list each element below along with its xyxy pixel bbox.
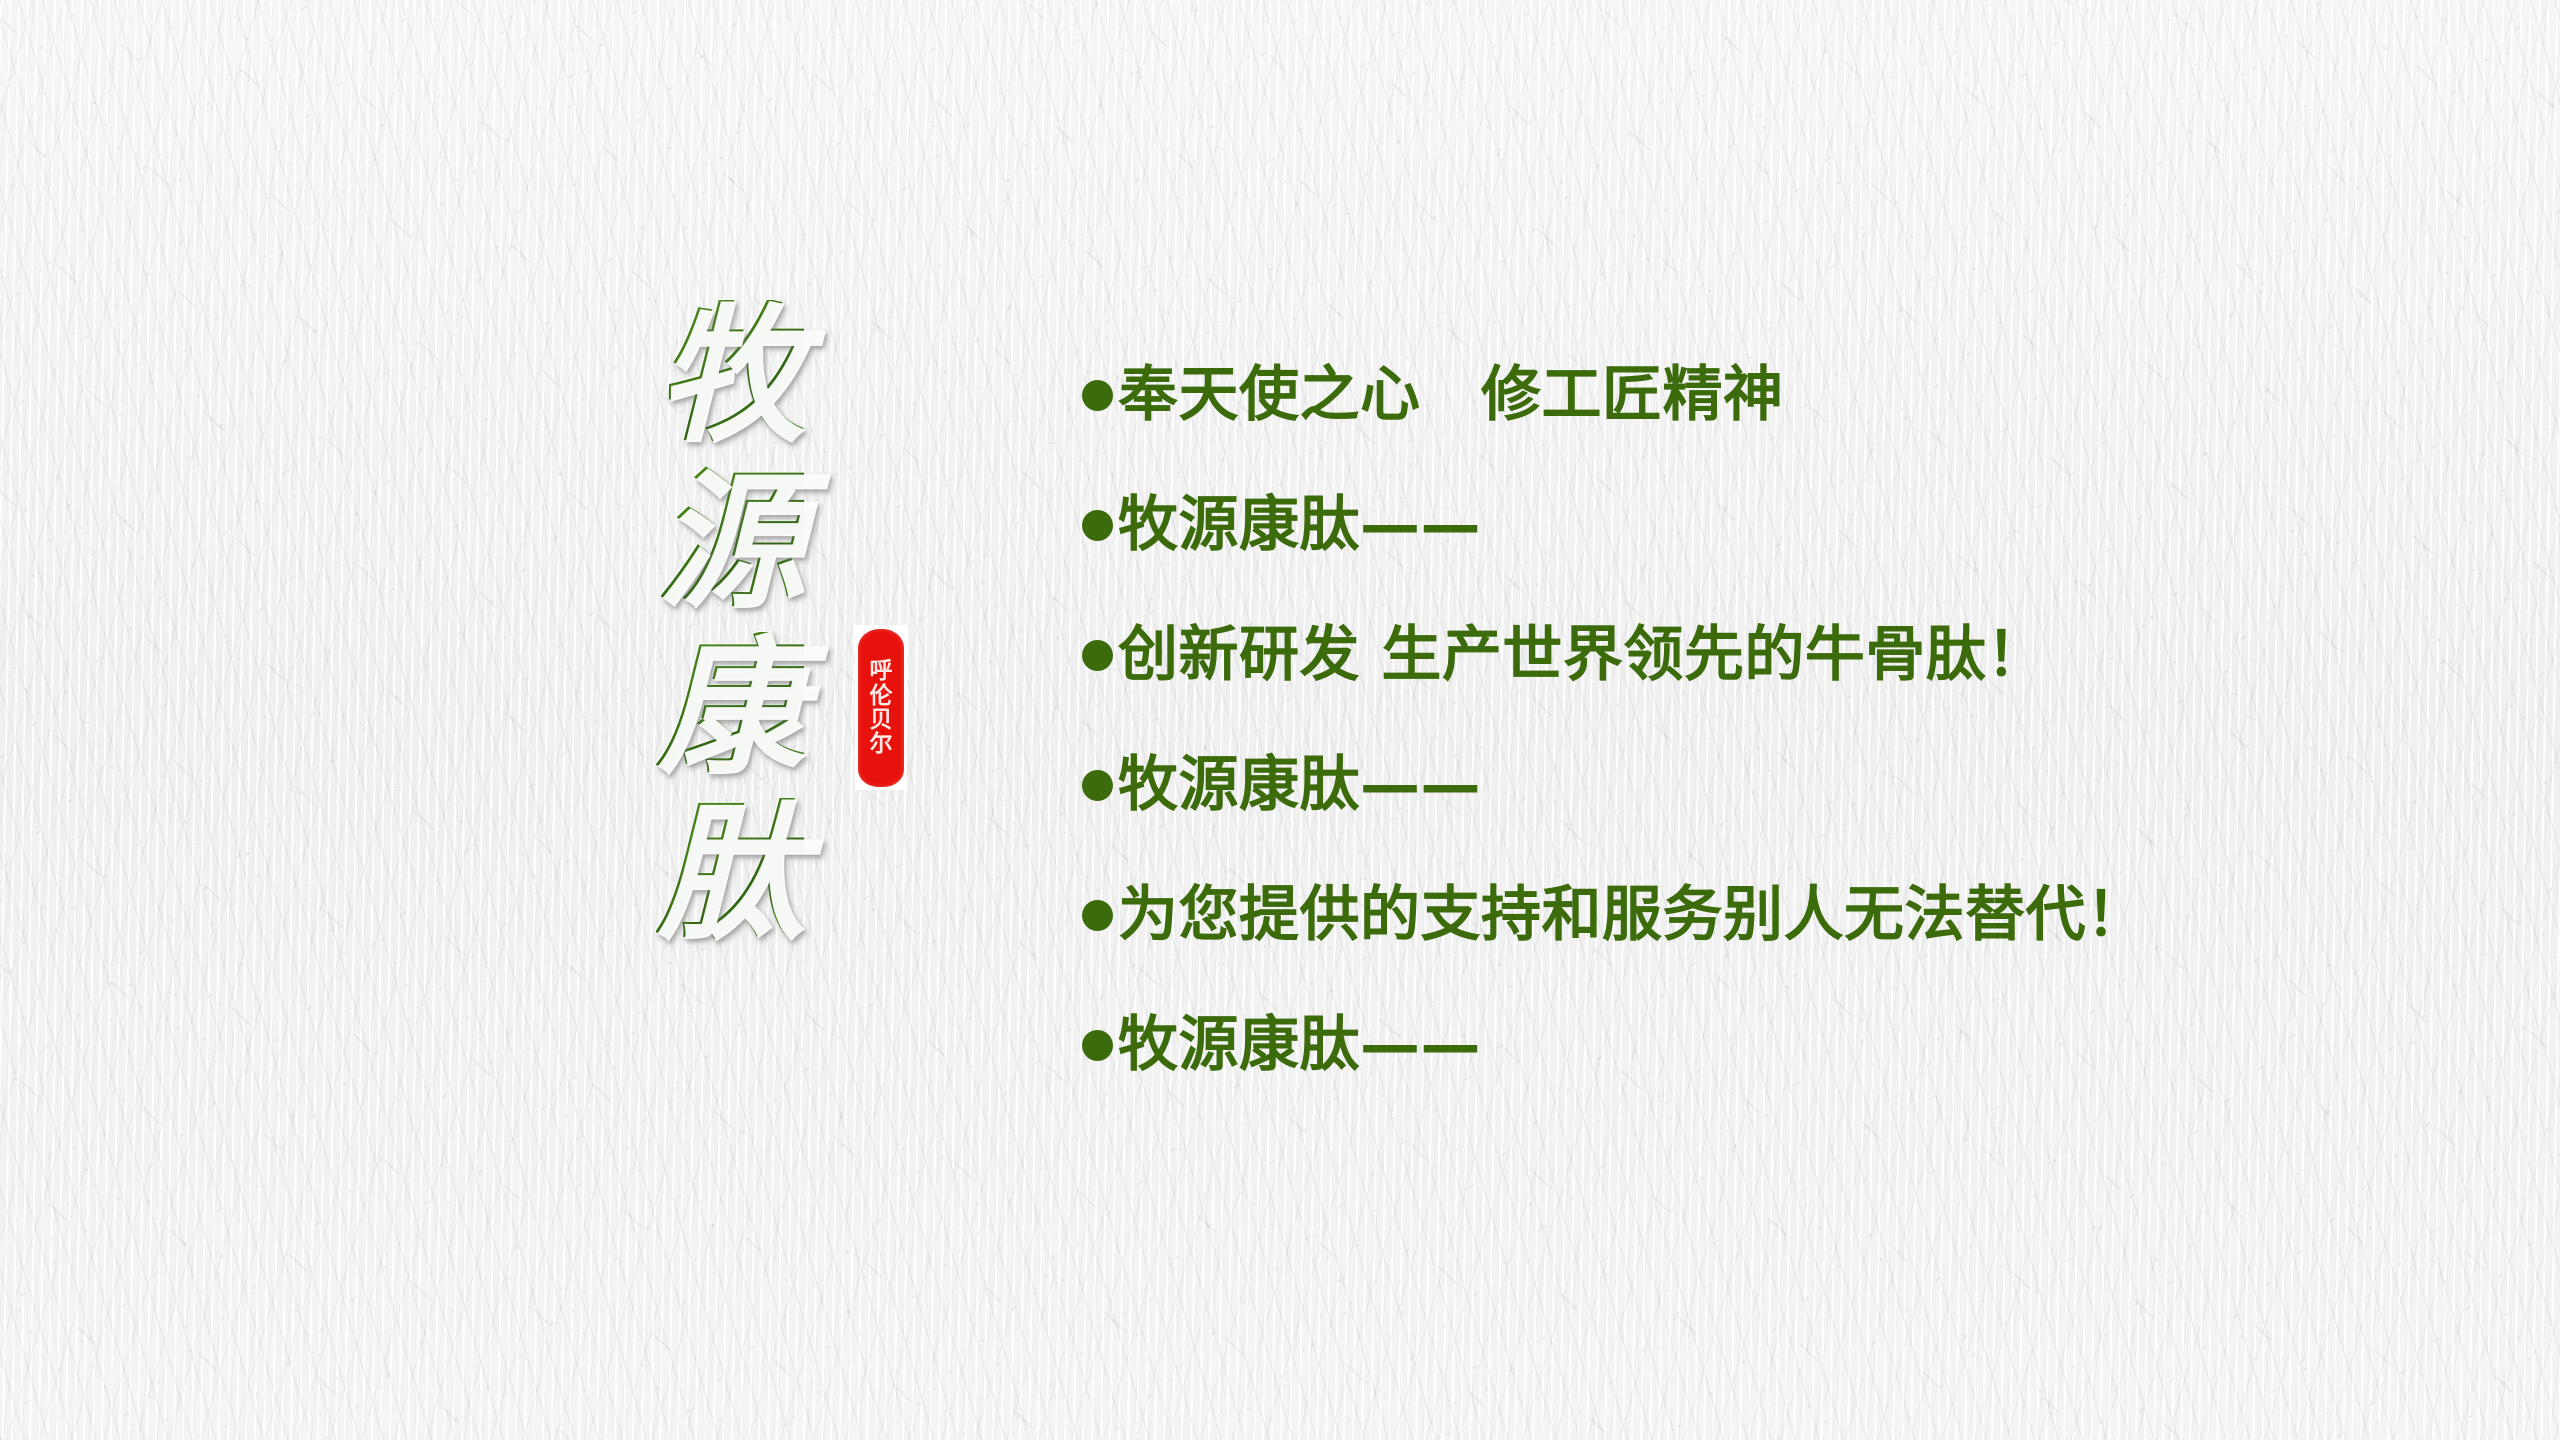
bullet-text: 为您提供的支持和服务别人无法替代！: [1118, 882, 2147, 948]
slogan-bullet-list: 奉天使之心 修工匠精神 牧源康肽—— 创新研发 生产世界领先的牛骨肽！ 牧源康肽…: [1082, 330, 2422, 1110]
bullet-dot-icon: [1082, 1030, 1113, 1061]
seal-char-2: 伦: [870, 684, 893, 707]
bullet-dot-icon: [1082, 770, 1113, 801]
red-seal-stamp-icon: 呼 伦 贝 尔: [855, 625, 907, 790]
bullet-dot-icon: [1082, 380, 1113, 411]
bullet-text: 牧源康肽——: [1118, 1012, 1481, 1078]
bullet-dot-icon: [1082, 640, 1113, 671]
brand-calligraphy-vertical: 牧 源 康 肽: [645, 300, 815, 946]
bullet-text: 创新研发 生产世界领先的牛骨肽！: [1118, 622, 2047, 688]
bullet-item: 奉天使之心 修工匠精神: [1082, 330, 2422, 460]
seal-char-3: 贝: [870, 708, 893, 731]
seal-char-1: 呼: [870, 659, 893, 682]
brand-char-3: 康: [656, 632, 804, 780]
bullet-item: 牧源康肽——: [1082, 720, 2422, 850]
bullet-dot-icon: [1082, 900, 1113, 931]
seal-char-4: 尔: [870, 732, 893, 755]
seal-body: 呼 伦 贝 尔: [858, 629, 904, 787]
bullet-text: 牧源康肽——: [1118, 752, 1481, 818]
bullet-item: 牧源康肽——: [1082, 980, 2422, 1110]
slide-canvas: 牧 源 康 肽 呼 伦 贝 尔 奉天使之心 修工匠精神 牧源康肽—— 创新研发 …: [0, 0, 2560, 1440]
bullet-text: 牧源康肽——: [1118, 492, 1481, 558]
brand-char-4: 肽: [656, 798, 804, 946]
bullet-item: 为您提供的支持和服务别人无法替代！: [1082, 850, 2422, 980]
brand-char-2: 源: [656, 466, 804, 614]
bullet-item: 牧源康肽——: [1082, 460, 2422, 590]
bullet-text: 奉天使之心 修工匠精神: [1118, 362, 1784, 428]
bullet-item: 创新研发 生产世界领先的牛骨肽！: [1082, 590, 2422, 720]
brand-char-1: 牧: [656, 300, 804, 448]
bullet-dot-icon: [1082, 510, 1113, 541]
